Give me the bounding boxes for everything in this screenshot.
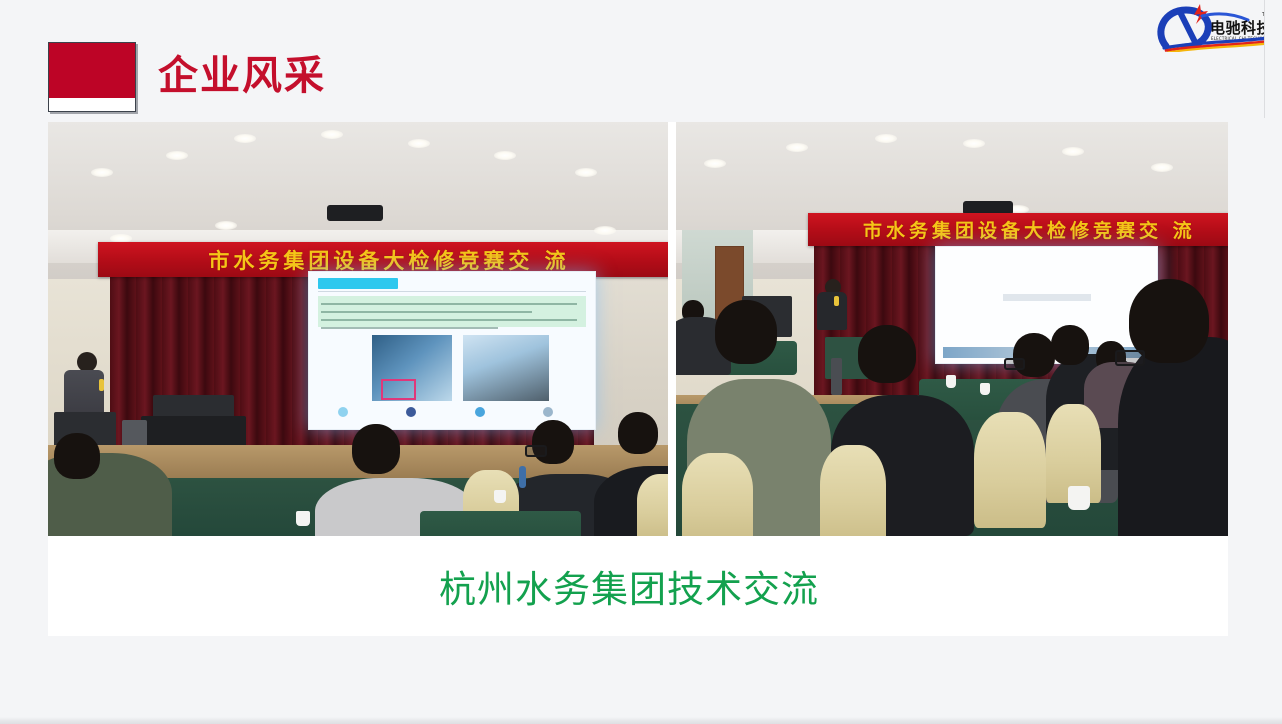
photo-right-scene: 市水务集团设备大检修竞赛交 流: [676, 122, 1228, 536]
brand-logo-mark: 电驰科技 ELECTRICAL CHI TECHNOLOGY TM: [1156, 2, 1274, 52]
photo-right-banner-text: 市水务集团设备大检修竞赛交 流: [863, 216, 1196, 243]
photo-gallery: 市水务集团设备大检修竞赛交 流: [48, 122, 1228, 536]
page-root: 电驰科技 ELECTRICAL CHI TECHNOLOGY TM 企业风采: [0, 0, 1282, 724]
gallery-photo-right[interactable]: 市水务集团设备大检修竞赛交 流: [676, 122, 1228, 536]
right-margin-pane: [1265, 0, 1282, 724]
content-card: 市水务集团设备大检修竞赛交 流: [48, 122, 1228, 636]
title-accent-fill: [49, 43, 135, 98]
title-accent-block: [48, 42, 136, 112]
page-title: 企业风采: [158, 42, 326, 96]
gallery-caption: 杭州水务集团技术交流: [439, 559, 819, 613]
page-header: 企业风采: [48, 42, 326, 114]
photo-left-scene: 市水务集团设备大检修竞赛交 流: [48, 122, 668, 536]
gallery-photo-left[interactable]: 市水务集团设备大检修竞赛交 流: [48, 122, 668, 536]
gallery-gap: [668, 122, 676, 536]
gallery-caption-bar: 杭州水务集团技术交流: [48, 536, 1228, 636]
brand-logo[interactable]: 电驰科技 ELECTRICAL CHI TECHNOLOGY TM: [1156, 2, 1274, 52]
page-bottom-strip: [0, 717, 1282, 724]
